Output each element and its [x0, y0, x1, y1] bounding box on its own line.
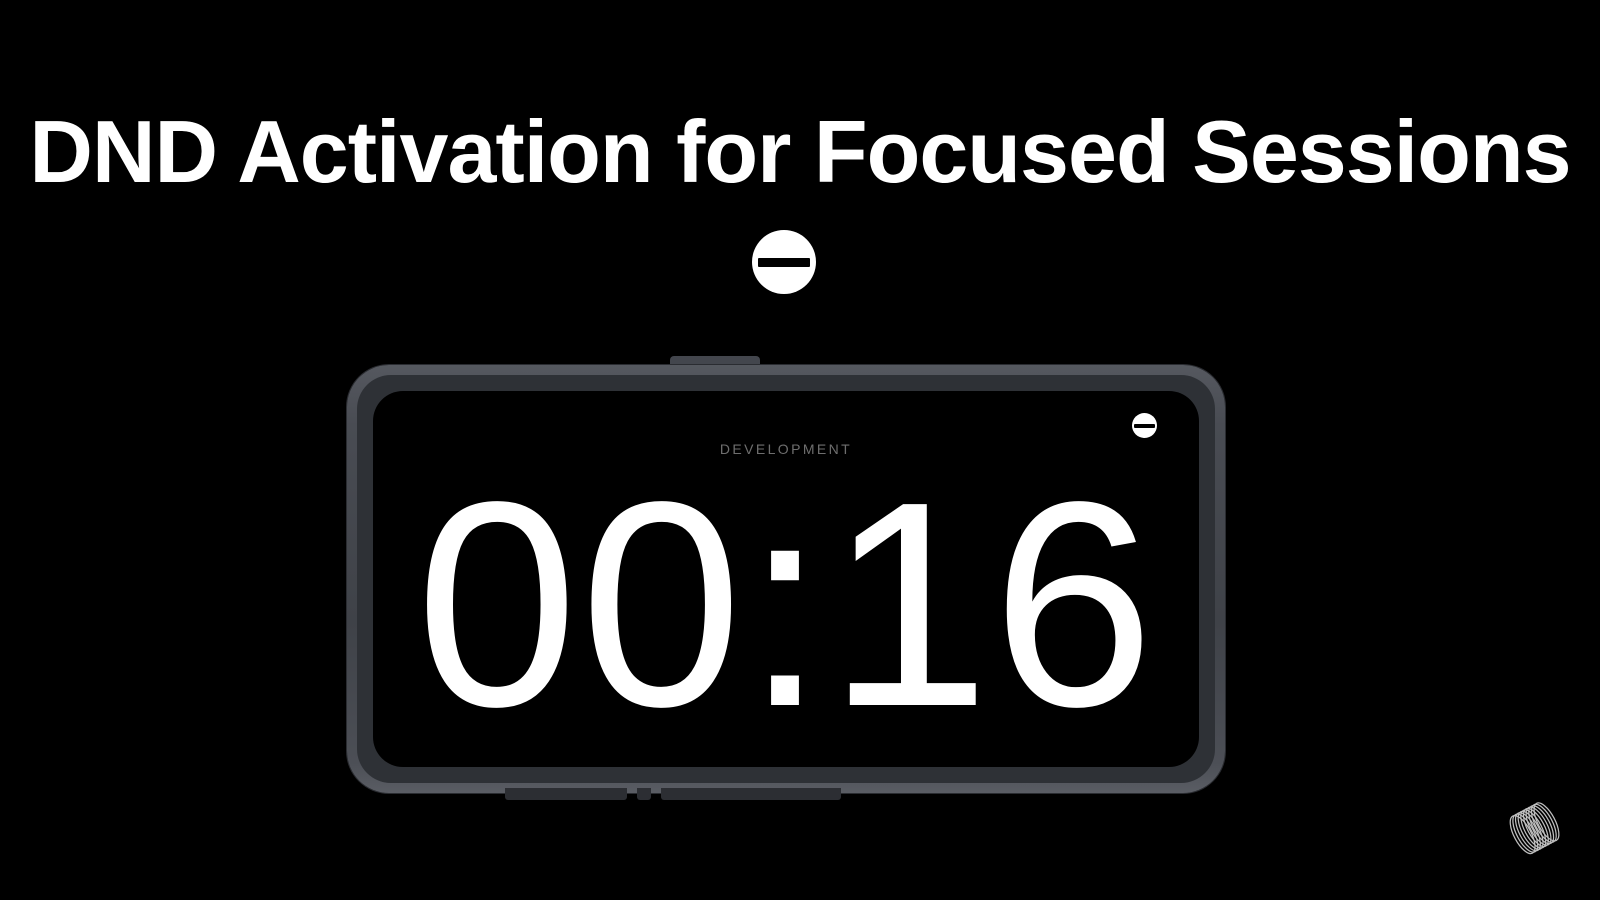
phone-bottom-nub-center [637, 788, 651, 800]
dnd-bar-shape [1134, 424, 1155, 428]
phone-inner-bezel: DEVELOPMENT 00:16 [357, 375, 1215, 783]
phone-bottom-nub-right [661, 788, 841, 800]
dnd-bar-shape [758, 258, 810, 268]
page-title: DND Activation for Focused Sessions [0, 108, 1600, 196]
timer-readout: 00:16 [373, 459, 1199, 749]
status-do-not-disturb-icon[interactable] [1132, 413, 1157, 438]
do-not-disturb-icon [752, 230, 816, 294]
phone-mockup: DEVELOPMENT 00:16 [345, 352, 1227, 800]
phone-bottom-nub-left [505, 788, 627, 800]
phone-frame: DEVELOPMENT 00:16 [347, 365, 1225, 793]
brand-logo [1495, 788, 1575, 868]
phone-screen: DEVELOPMENT 00:16 [373, 391, 1199, 767]
